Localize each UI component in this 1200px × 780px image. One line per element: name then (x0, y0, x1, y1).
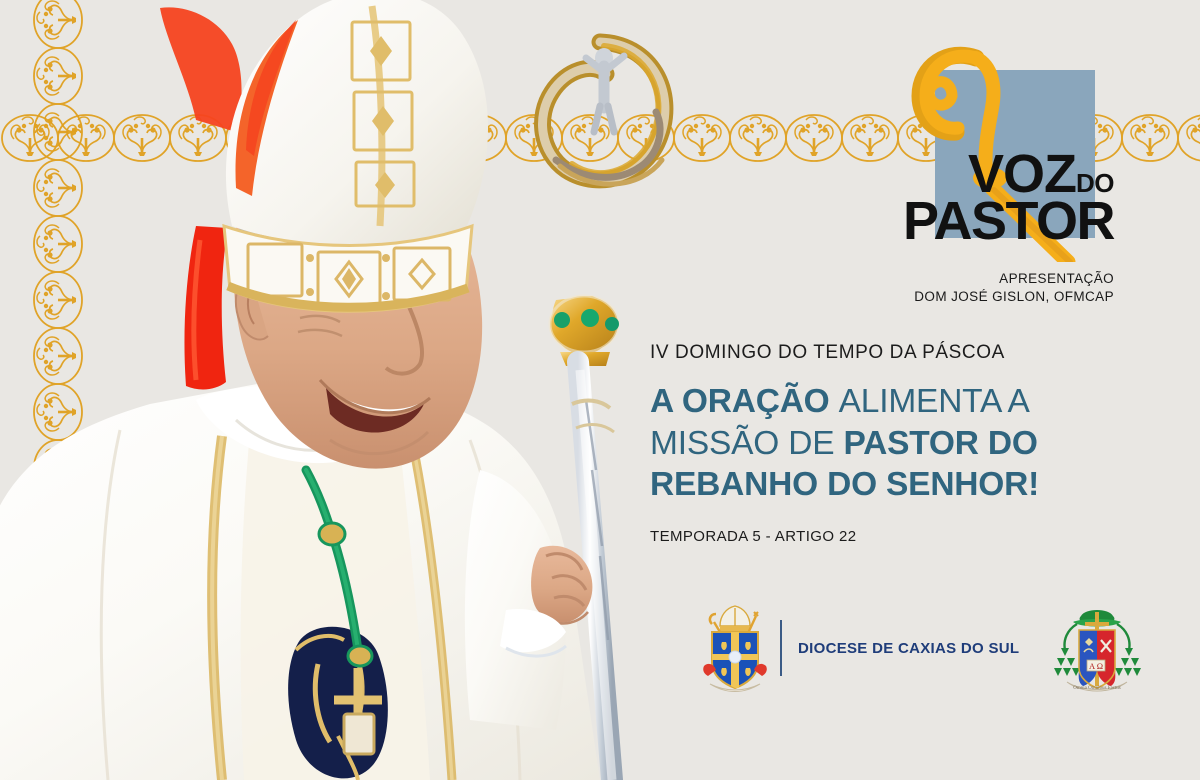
footer-crests: DIOCESE DE CAXIAS DO SUL (700, 598, 1070, 698)
crozier (543, 42, 665, 780)
bishop-motto-text: Omnia Omnibus Factus (1074, 686, 1122, 691)
presenter-name: DOM JOSÉ GISLON, OFMCAP (880, 288, 1114, 306)
poster-canvas: VOZDO PASTOR APRESENTAÇÃO DOM JOSÉ GISLO… (0, 0, 1200, 780)
headline-part-1: A ORAÇÃO (650, 383, 839, 420)
chest-embroidery (288, 627, 388, 780)
presenter-label: APRESENTAÇÃO (880, 270, 1114, 288)
crest-divider (780, 620, 782, 676)
crozier-knop (550, 296, 619, 366)
diocese-coat-of-arms-icon (700, 602, 770, 694)
bishop-portrait-image (0, 0, 700, 780)
headline-text: A ORAÇÃO ALIMENTA A MISSÃO DE PASTOR DO … (650, 381, 1110, 506)
green-gold-cord (306, 470, 372, 666)
chasuble (0, 376, 600, 780)
headline-block: IV DOMINGO DO TEMPO DA PÁSCOA A ORAÇÃO A… (650, 342, 1110, 545)
bishop-coat-of-arms-icon: A Ω Omnia Omnibus Factus (1051, 598, 1143, 698)
season-article-label: TEMPORADA 5 - ARTIGO 22 (650, 528, 1110, 545)
pectoral-cross (334, 668, 382, 754)
logo-presenter: APRESENTAÇÃO DOM JOSÉ GISLON, OFMCAP (880, 270, 1120, 305)
voz-do-pastor-logo: VOZDO PASTOR APRESENTAÇÃO DOM JOSÉ GISLO… (880, 22, 1120, 302)
mitre (224, 0, 488, 311)
liturgical-eyebrow: IV DOMINGO DO TEMPO DA PÁSCOA (650, 342, 1110, 364)
head (233, 198, 482, 469)
amice-collar (196, 386, 404, 463)
gold-vine-border-vertical-icon (28, 0, 88, 780)
crozier-figurine (586, 48, 624, 132)
logo-word-pastor: PASTOR (880, 196, 1114, 248)
svg-text:A Ω: A Ω (1089, 661, 1103, 671)
logo-wordmark: VOZDO PASTOR (880, 150, 1120, 248)
mitre-lappet (184, 226, 228, 389)
diocese-name-label: DIOCESE DE CAXIAS DO SUL (798, 640, 1019, 657)
hand-on-crozier (465, 470, 593, 730)
